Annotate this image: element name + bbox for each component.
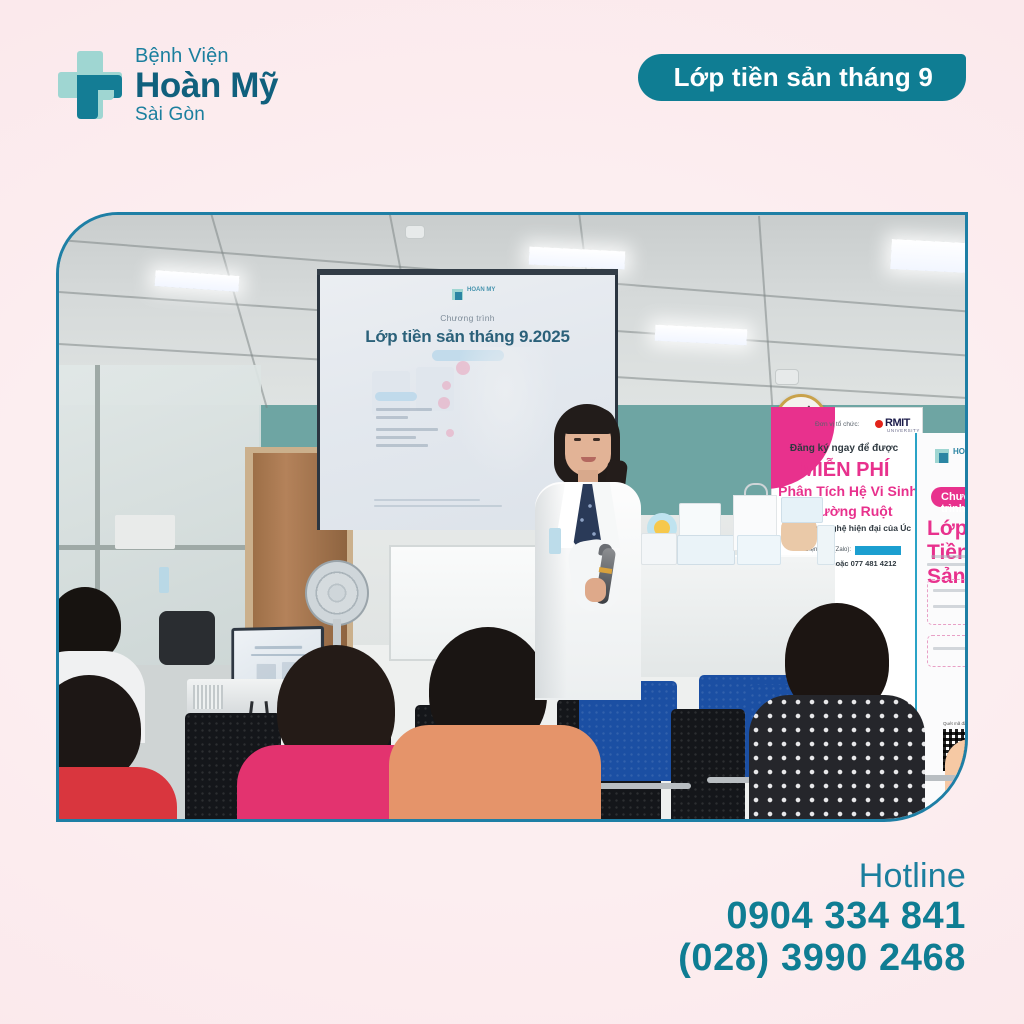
product-box	[781, 497, 823, 523]
slide-accent-dot	[446, 429, 454, 437]
product-display	[641, 491, 831, 563]
logo-r-stem	[77, 75, 98, 119]
title-badge: Lớp tiền sản tháng 9	[638, 54, 966, 101]
projector-vent	[193, 685, 223, 709]
partition-shelf-item	[115, 515, 175, 549]
standee-text-line	[931, 555, 965, 558]
slide-accent-dot	[442, 381, 451, 390]
hospital-logo: Bệnh Viện Hoàn Mỹ Sài Gòn	[58, 46, 278, 124]
standee-info-box	[927, 579, 965, 625]
standee-logo-text: HOÀN MỸ	[953, 447, 965, 457]
laptop-content-line	[251, 654, 306, 656]
standee-text-line	[933, 647, 965, 650]
attendee-body	[749, 695, 925, 819]
smoke-detector-icon	[405, 225, 425, 239]
standee-chip-label: Chương trình	[941, 491, 965, 515]
speaker-doctor	[527, 400, 653, 700]
standee-text-line	[933, 605, 965, 608]
chair	[671, 709, 745, 819]
poster-root: Bệnh Viện Hoàn Mỹ Sài Gòn Lớp tiền sản t…	[0, 0, 1024, 1024]
product-box	[677, 535, 735, 565]
slide-logo-text: HOÀN MỸ	[467, 287, 495, 294]
ceiling-light	[890, 239, 965, 273]
title-badge-label: Lớp tiền sản tháng 9	[674, 62, 933, 93]
hotline-landline[interactable]: (028) 3990 2468	[678, 937, 966, 980]
hotline-label: Hotline	[678, 857, 966, 895]
medical-cross-icon	[58, 51, 122, 119]
event-photo: HOÀN MỸ Chương trình Lớp tiền sản tháng …	[59, 215, 965, 819]
fan-cage	[305, 560, 369, 626]
attendee-body	[389, 725, 601, 819]
poster-header: Bệnh Viện Hoàn Mỹ Sài Gòn Lớp tiền sản t…	[0, 0, 1024, 160]
standee-illustration-body	[947, 777, 965, 809]
slide-logo-icon	[452, 289, 463, 300]
standee-organizer-label: Đơn vị tổ chức:	[815, 421, 859, 428]
logo-line-3: Sài Gòn	[135, 105, 278, 124]
slide-section-chip	[375, 392, 417, 401]
slide-body-line	[376, 444, 428, 447]
slide-accent-dot	[456, 361, 470, 375]
slide-footer-line	[374, 499, 480, 501]
smoke-detector-icon	[775, 369, 799, 385]
hotline-mobile[interactable]: 0904 334 841	[678, 895, 966, 938]
slide-accent-dot	[438, 397, 450, 409]
standee-line-2: MIỄN PHÍ	[771, 459, 919, 482]
speaker-hand	[585, 578, 606, 602]
slide-title: Lớp tiền sản tháng 9.2025	[320, 327, 615, 347]
event-photo-frame: HOÀN MỸ Chương trình Lớp tiền sản tháng …	[56, 212, 968, 822]
slide-kicker: Chương trình	[320, 313, 615, 323]
standee-phone-redaction	[855, 546, 901, 555]
standing-fan	[305, 560, 369, 626]
office-chair-behind-glass	[159, 611, 215, 665]
laptop-content-line	[255, 646, 302, 649]
product-bottle	[817, 525, 835, 565]
standee-text-line	[933, 589, 965, 592]
standee-text-line	[927, 563, 965, 566]
rmit-logo-dot-icon	[875, 420, 883, 428]
attendee-body	[59, 767, 177, 819]
speaker-eye	[574, 438, 581, 441]
hotline-block: Hotline 0904 334 841 (028) 3990 2468	[678, 857, 966, 980]
speaker-eye	[593, 438, 600, 441]
laptop-content-thumb	[257, 664, 276, 680]
slide-body-line	[376, 408, 432, 411]
standee-logo-icon	[935, 449, 949, 463]
standee-info-box	[927, 635, 965, 667]
slide-body-line	[376, 416, 408, 419]
logo-line-2: Hoàn Mỹ	[135, 68, 278, 103]
slide-footer-line	[374, 505, 502, 507]
standee-phone-alt: hoặc 077 481 4212	[831, 559, 896, 568]
logo-r-notch	[98, 90, 114, 100]
standee-line-1: Đăng ký ngay để được	[771, 443, 917, 454]
logo-wordmark: Bệnh Viện Hoàn Mỹ Sài Gòn	[135, 46, 278, 124]
slide-body-line	[376, 436, 416, 439]
logo-line-1: Bệnh Viện	[135, 46, 278, 66]
standee-qr-label: Quét mã đăng ký	[943, 721, 965, 726]
slide-body-line	[376, 428, 438, 431]
water-bottle	[159, 567, 169, 593]
speaker-id-badge	[549, 528, 561, 554]
speaker-fringe	[560, 408, 616, 434]
product-box	[737, 535, 781, 565]
